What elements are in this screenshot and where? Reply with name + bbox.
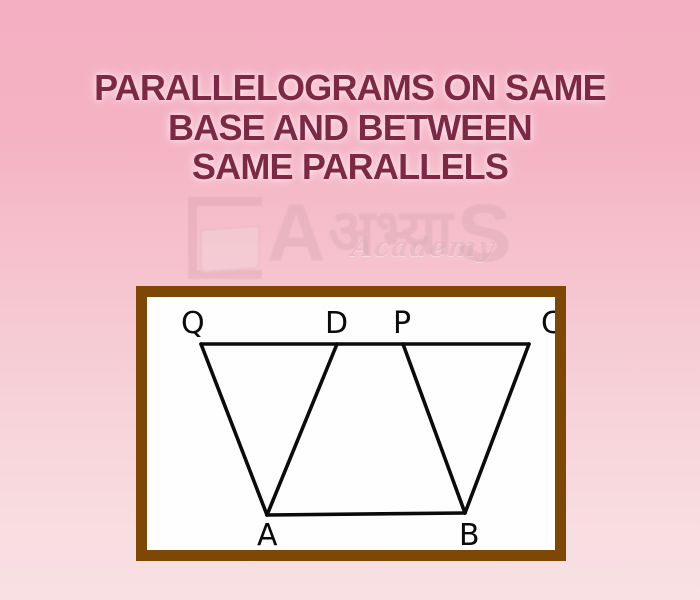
diagram-edges (201, 344, 529, 515)
watermark-logo: A अभ्या S (0, 175, 700, 300)
vertex-label-p: P (393, 306, 411, 341)
figure-frame: QDPCAB (136, 286, 566, 561)
diagram-edge-diagonal-PB (403, 344, 465, 513)
geometry-diagram: QDPCAB (147, 297, 555, 550)
vertex-label-q: Q (181, 306, 205, 341)
watermark-letter-a: A (266, 197, 323, 271)
open-book-icon (188, 197, 262, 279)
vertex-label-d: D (325, 306, 348, 341)
diagram-edge-base-AB (267, 513, 465, 515)
page-title: PARALLELOGRAMS ON SAME BASE AND BETWEEN … (0, 68, 700, 187)
diagram-edge-side-CB (465, 344, 529, 513)
vertex-label-b: B (459, 518, 480, 550)
figure-canvas: QDPCAB (147, 297, 555, 550)
title-line-2: BASE AND BETWEEN (0, 108, 700, 148)
title-line-1: PARALLELOGRAMS ON SAME (0, 68, 700, 108)
title-line-3: SAME PARALLELS (0, 147, 700, 187)
vertex-label-a: A (257, 518, 278, 550)
vertex-label-c: C (541, 306, 555, 341)
watermark-academy-text: Academy (350, 232, 495, 263)
diagram-edge-side-QA (201, 344, 267, 515)
diagram-edge-diagonal-DA (267, 344, 337, 515)
